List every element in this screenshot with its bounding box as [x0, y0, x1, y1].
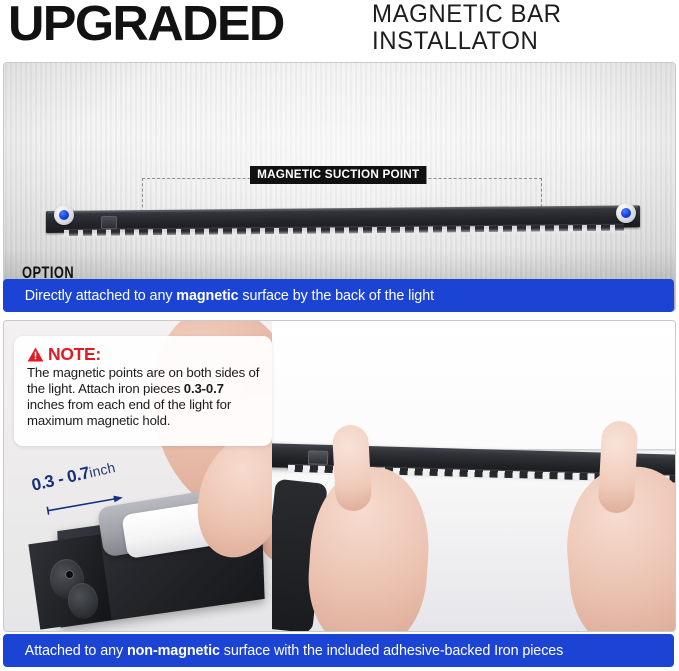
- light-bar-switch-icon: [101, 216, 117, 229]
- dimension-annotation: 0.3 - 0.7inch: [32, 470, 202, 520]
- end-cap-port: [66, 571, 73, 578]
- option-2-caption-text: Attached to any non-magnetic surface wit…: [3, 643, 563, 659]
- finger-right-photo: [598, 420, 639, 514]
- infographic-page: UPGRADED MAGNETIC BAR INSTALLATON MAGNET…: [0, 0, 679, 671]
- page-subtitle: MAGNETIC BAR INSTALLATON: [372, 1, 562, 54]
- caption-text-after: surface with the included adhesive-backe…: [220, 643, 563, 659]
- warning-triangle-icon: [27, 347, 44, 362]
- magnetic-suction-point-label: MAGNETIC SUCTION POINT: [250, 166, 426, 184]
- option-2-caption-banner: Attached to any non-magnetic surface wit…: [3, 634, 674, 667]
- caption-text-bold: non-magnetic: [127, 643, 220, 659]
- note-callout-box: NOTE: The magnetic points are on both si…: [14, 336, 272, 446]
- subtitle-line-1: MAGNETIC BAR: [372, 1, 562, 28]
- page-title: UPGRADED: [8, 0, 284, 52]
- magnet-core: [59, 210, 69, 220]
- caption-text-before: Directly attached to any: [25, 288, 177, 304]
- note-body-text: The magnetic points are on both sides of…: [27, 365, 260, 429]
- subtitle-line-2: INSTALLATON: [372, 28, 562, 55]
- note-title: NOTE:: [48, 345, 101, 363]
- dimension-unit: inch: [87, 459, 116, 481]
- magnet-core: [621, 208, 631, 218]
- note-header: NOTE:: [27, 345, 260, 363]
- caption-text-after: surface by the back of the light: [239, 288, 434, 304]
- note-body-part-2: inches from each end of the light for ma…: [27, 397, 231, 428]
- magnet-point-right-icon: [616, 203, 636, 223]
- option-1-caption-banner: Directly attached to any magnetic surfac…: [3, 279, 674, 312]
- dimension-arrow-icon: [45, 492, 124, 517]
- magnet-point-left-icon: [54, 205, 74, 225]
- option-2-right-photo: [272, 321, 675, 631]
- finger-left-photo: [332, 424, 372, 512]
- option-1-panel: MAGNETIC SUCTION POINT OPTION 01: [3, 62, 676, 312]
- light-bar-product: [46, 211, 640, 239]
- page-header: UPGRADED MAGNETIC BAR INSTALLATON: [0, 0, 679, 58]
- light-bar-switch-icon: [308, 450, 328, 465]
- caption-text-before: Attached to any: [25, 643, 127, 659]
- caption-text-bold: magnetic: [176, 288, 238, 304]
- note-body-part-1: The magnetic points are on both sides of…: [27, 365, 259, 396]
- option-1-caption-text: Directly attached to any magnetic surfac…: [3, 288, 434, 304]
- note-body-measurement: 0.3-0.7: [184, 381, 224, 396]
